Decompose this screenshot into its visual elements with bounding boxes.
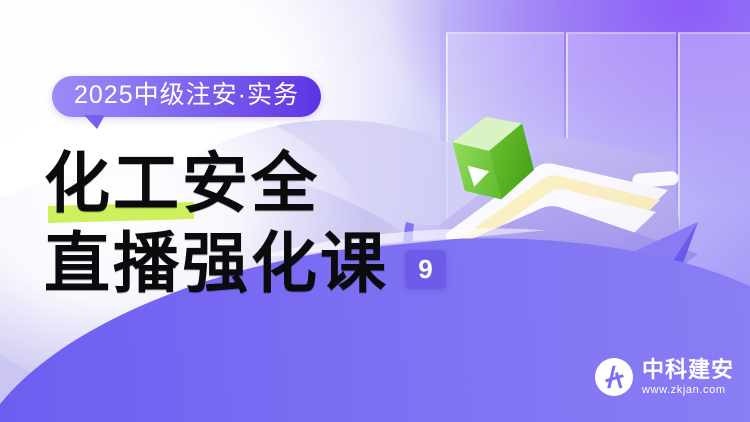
course-illustration xyxy=(398,104,750,364)
brand-logo: 中科建安 www.zkjan.com xyxy=(595,358,734,396)
course-poster: 2025中级注安·实务 化工安全 直播强化课 9 中科建安 www.zkjan.… xyxy=(0,0,750,422)
badge-tail-icon xyxy=(84,115,105,129)
course-category-label: 2025中级注安·实务 xyxy=(74,81,299,109)
brand-mark-icon xyxy=(595,358,633,396)
brand-website: www.zkjan.com xyxy=(642,385,734,396)
episode-number-badge: 9 xyxy=(405,250,446,289)
page-subtitle: 直播强化课 xyxy=(44,228,389,302)
page-title: 化工安全 xyxy=(44,148,320,222)
brand-text: 中科建安 www.zkjan.com xyxy=(642,359,734,396)
title-line-1: 化工安全 xyxy=(44,148,446,222)
poster-title-block: 化工安全 直播强化课 9 xyxy=(44,148,446,302)
course-category-badge: 2025中级注安·实务 xyxy=(52,76,321,117)
brand-name: 中科建安 xyxy=(642,359,734,381)
title-line-2: 直播强化课 9 xyxy=(44,228,446,302)
